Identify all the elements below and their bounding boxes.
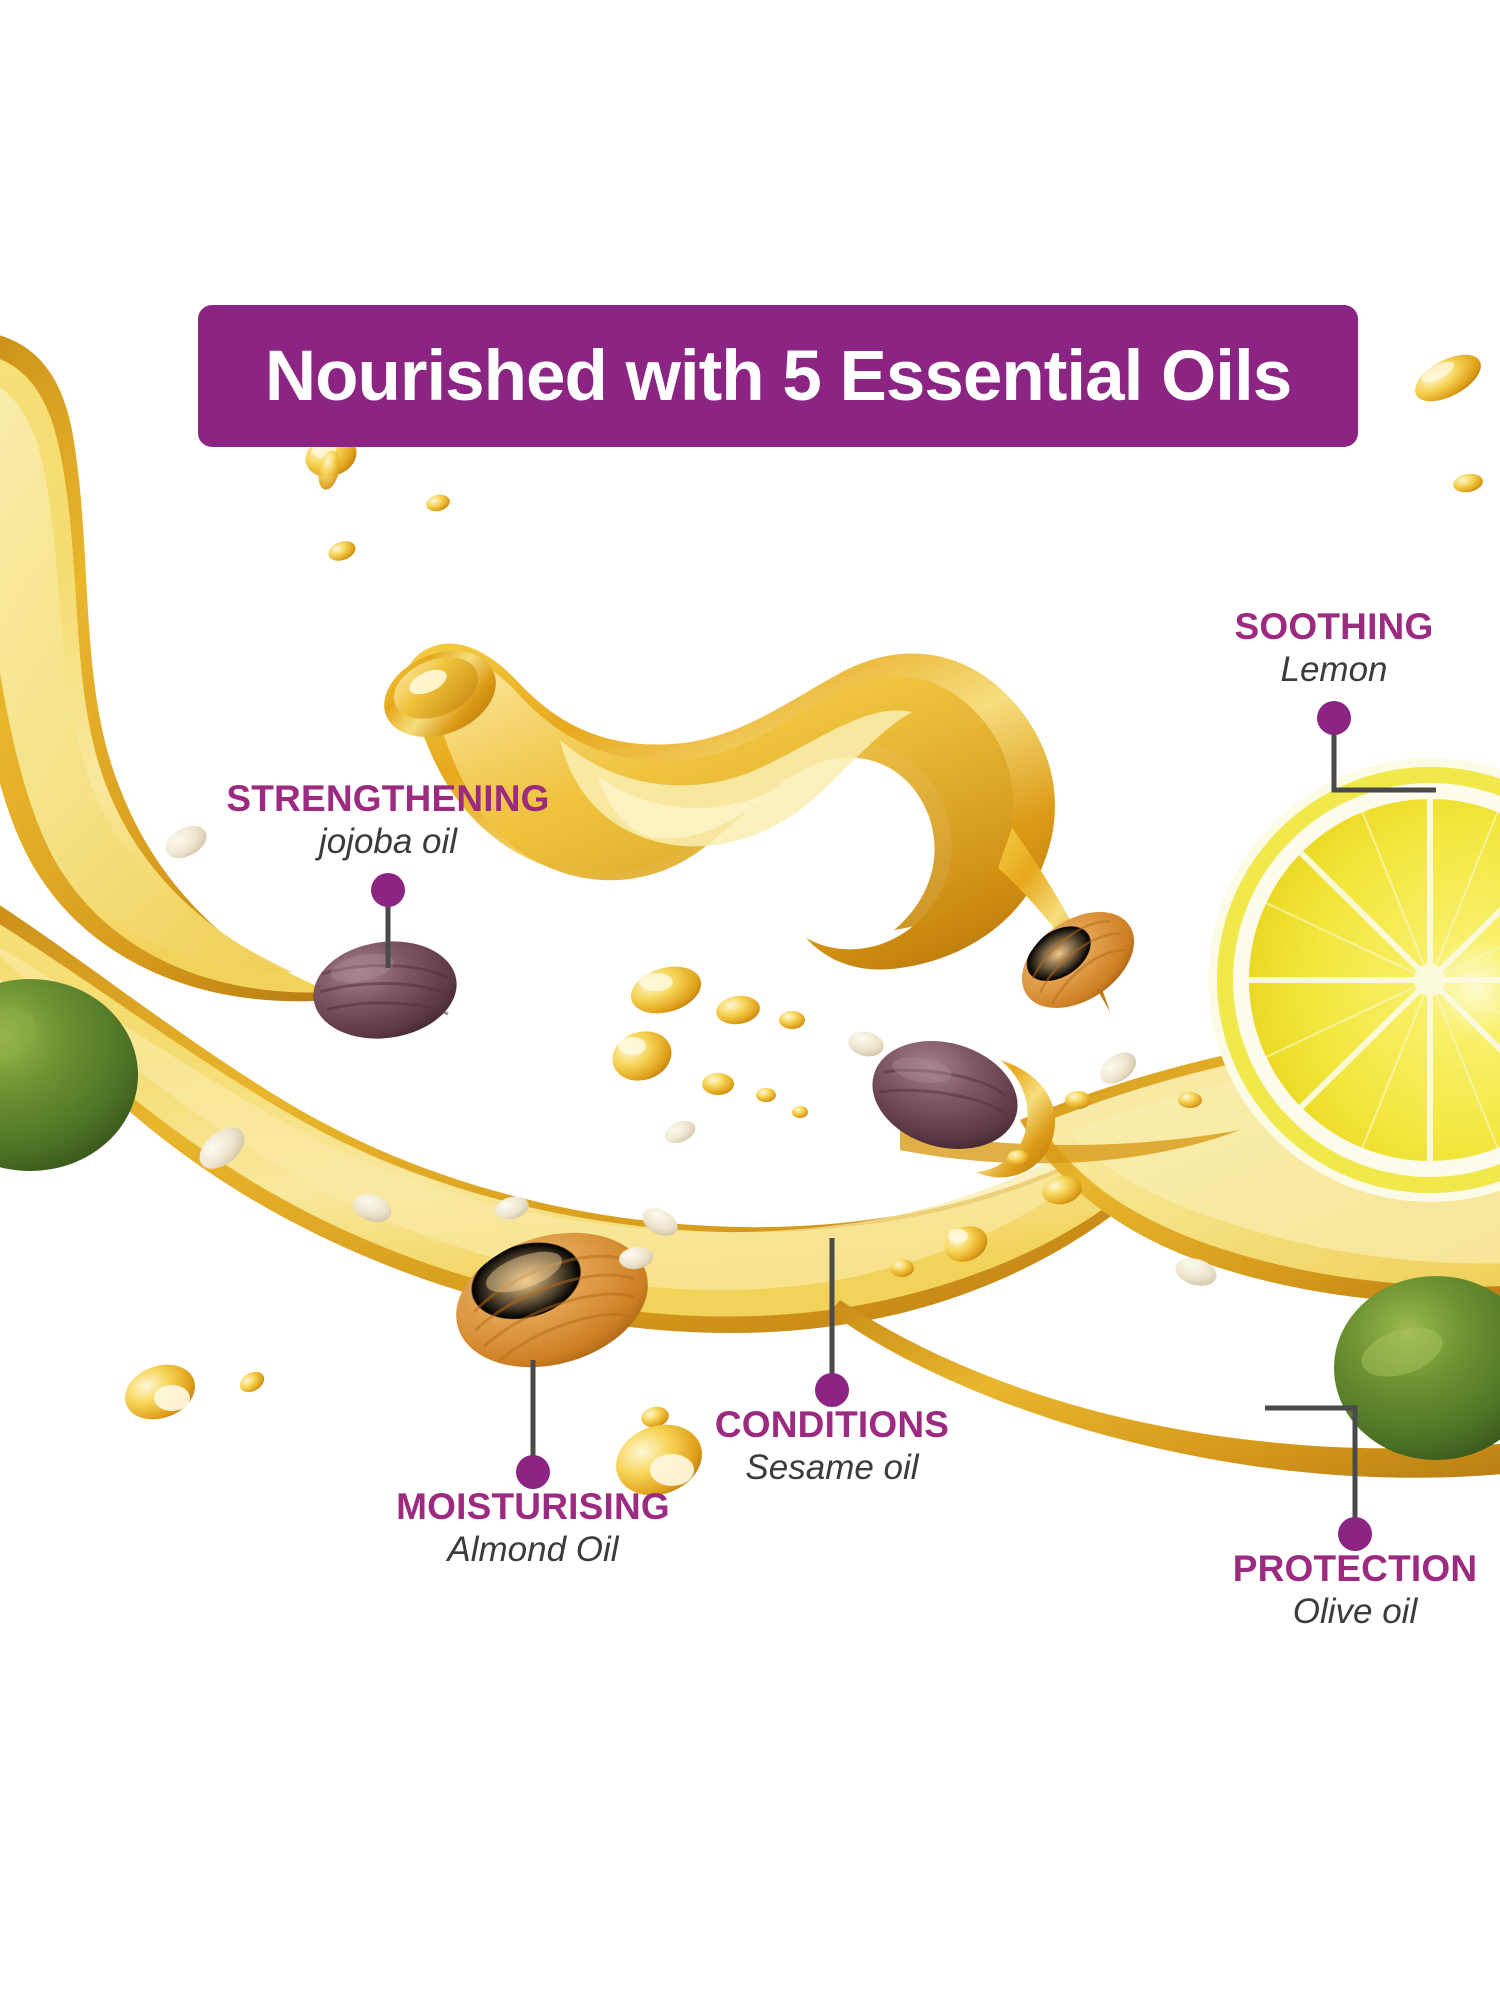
- callout-subtitle-strengthening: jojoba oil: [198, 822, 578, 861]
- callout-soothing: SOOTHING Lemon: [1154, 608, 1500, 689]
- banner-title: Nourished with 5 Essential Oils: [265, 341, 1291, 412]
- callout-title-strengthening: STRENGTHENING: [198, 780, 578, 819]
- almond-right: [1004, 892, 1152, 1028]
- jojoba-bean-left: [307, 932, 463, 1047]
- infographic-canvas: Nourished with 5 Essential Oils STRENGTH…: [0, 0, 1500, 2000]
- callout-title-moisturising: MOISTURISING: [343, 1488, 723, 1527]
- callout-strengthening: STRENGTHENING jojoba oil: [198, 780, 578, 861]
- callout-moisturising: MOISTURISING Almond Oil: [343, 1488, 723, 1569]
- callout-subtitle-protection: Olive oil: [1195, 1592, 1500, 1631]
- callout-conditions: CONDITIONS Sesame oil: [692, 1406, 972, 1487]
- callout-subtitle-moisturising: Almond Oil: [343, 1530, 723, 1569]
- oil-splash-illustration: [0, 0, 1500, 2000]
- callout-subtitle-conditions: Sesame oil: [692, 1448, 972, 1487]
- callout-title-soothing: SOOTHING: [1154, 608, 1500, 647]
- callout-subtitle-soothing: Lemon: [1154, 650, 1500, 689]
- callout-title-protection: PROTECTION: [1195, 1550, 1500, 1589]
- callout-protection: PROTECTION Olive oil: [1195, 1550, 1500, 1631]
- olive-right: [1334, 1276, 1500, 1460]
- title-banner: Nourished with 5 Essential Oils: [198, 305, 1358, 447]
- callout-title-conditions: CONDITIONS: [692, 1406, 972, 1445]
